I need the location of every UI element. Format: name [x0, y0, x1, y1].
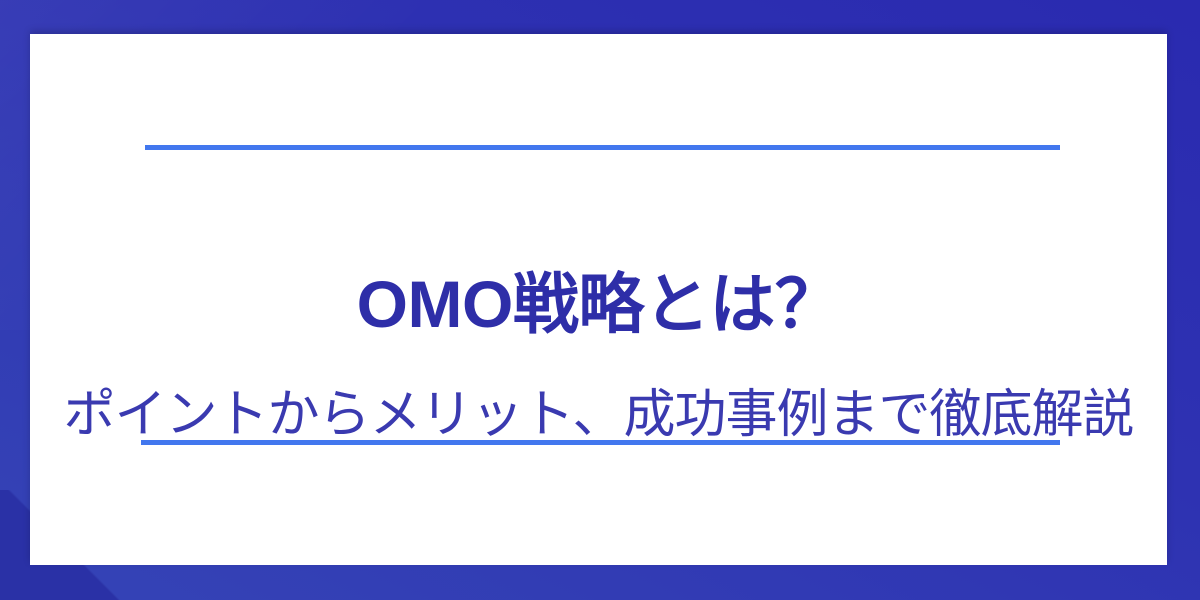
page-subtitle: ポイントからメリット、成功事例まで徹底解説 — [30, 389, 1167, 441]
divider-rule-bottom — [141, 440, 1060, 445]
page-title: OMO戦略とは？ — [30, 271, 1167, 337]
divider-rule-top — [145, 145, 1060, 150]
content-card-inner: OMO戦略とは？ ポイントからメリット、成功事例まで徹底解説 — [30, 34, 1167, 565]
banner-canvas: OMO戦略とは？ ポイントからメリット、成功事例まで徹底解説 — [0, 0, 1200, 600]
content-card: OMO戦略とは？ ポイントからメリット、成功事例まで徹底解説 — [30, 34, 1167, 565]
